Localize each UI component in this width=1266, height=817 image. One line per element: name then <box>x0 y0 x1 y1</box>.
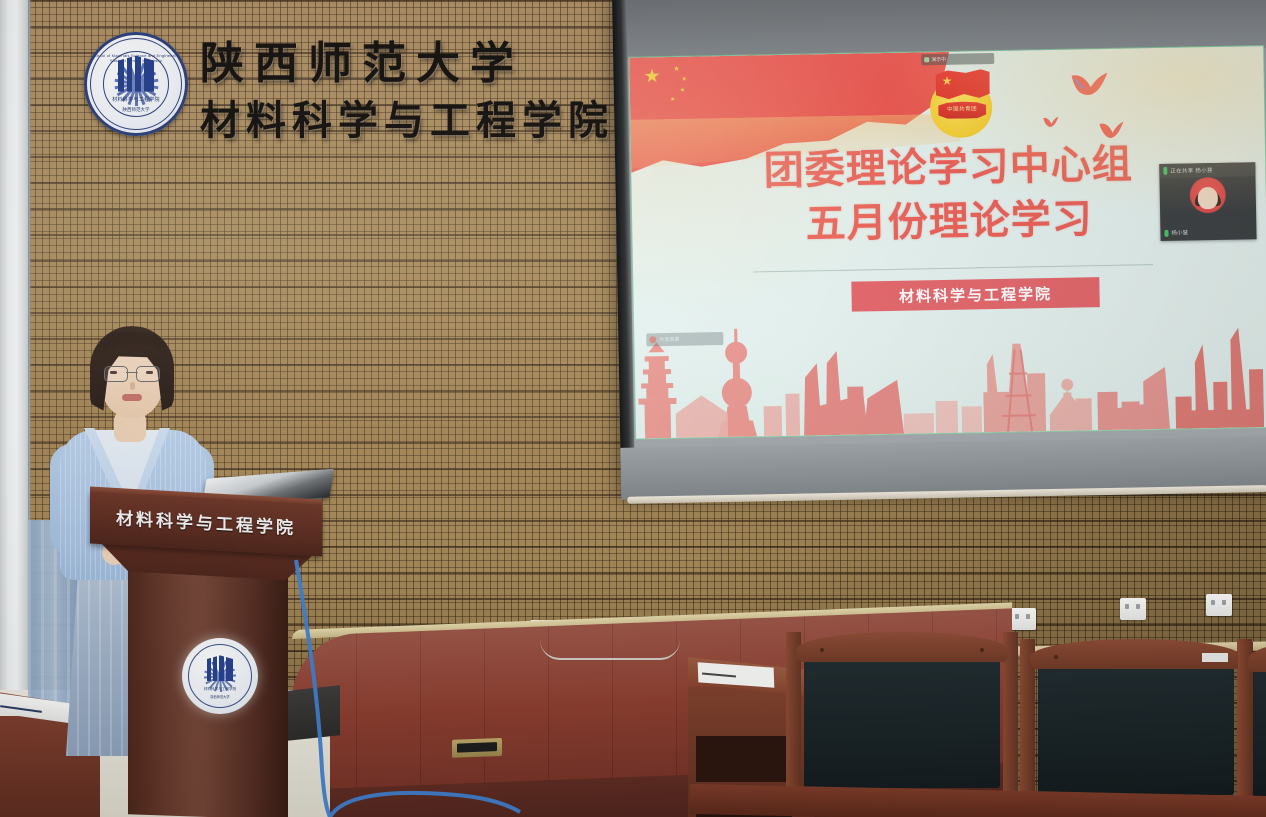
pip-avatar <box>1187 177 1228 218</box>
league-band-text: 中国共青团 <box>938 101 986 119</box>
chair-backrest-pad <box>804 658 999 788</box>
slide-corner-overlay-label[interactable]: 共享屏幕 <box>646 332 723 346</box>
flag-star-3: ★ <box>680 87 686 94</box>
emblem-cn-line2: 陕西师范大学 <box>84 107 188 113</box>
chair-top-rail <box>796 632 1008 662</box>
city-skyline-graphic <box>634 299 1266 439</box>
wall-signage-university: 陕西师范大学 <box>200 38 600 90</box>
glasses-icon <box>104 366 160 380</box>
flag-star-2: ★ <box>682 76 688 83</box>
pip-sharing-label: 正在共享 杨小慧 <box>1170 166 1213 175</box>
presenter-mouth <box>122 394 142 401</box>
toolbar-label: 演示中 <box>931 56 946 63</box>
school-emblem: School of Materials Science and Engineer… <box>84 32 188 136</box>
lectern-emblem-book-icon <box>207 655 233 681</box>
chair-top-rail <box>1030 639 1242 669</box>
lectern-emblem-line2: 陕西师范大学 <box>182 694 258 699</box>
chair-screw <box>1054 655 1058 659</box>
wall-outlet[interactable] <box>1120 598 1146 620</box>
left-white-pillar <box>0 0 30 700</box>
lectern-sign-text: 材料科学与工程学院 <box>90 503 322 541</box>
dove-icon-medium <box>1098 121 1124 141</box>
dove-icon-small <box>1042 116 1059 129</box>
toolbar-dot-icon <box>924 57 929 62</box>
wall-outlet[interactable] <box>1010 608 1036 630</box>
youth-league-emblem: ★ 中国共青团 <box>925 67 998 140</box>
desk-shelf-upper <box>696 736 792 782</box>
chair-screw <box>980 648 984 652</box>
meeting-participant-tile[interactable]: 正在共享 杨小慧 杨小慧 <box>1159 162 1256 241</box>
power-cable-small <box>540 640 680 660</box>
flag-star-large: ★ <box>643 67 660 86</box>
overlay-avatar-icon <box>649 336 656 343</box>
pip-footer: 杨小慧 <box>1164 228 1188 236</box>
emblem-cn-line1: 材料科学与工程学院 <box>84 96 188 103</box>
wall-signage-college: 材料科学与工程学院 <box>200 94 600 148</box>
league-star: ★ <box>942 75 953 87</box>
overlay-label-text: 共享屏幕 <box>659 336 679 343</box>
chair-backrest-pad <box>1253 668 1266 798</box>
slide-divider <box>753 264 1153 272</box>
dove-icon-large <box>1069 71 1110 102</box>
lectern: 材料科学与工程学院 材料科学与工程学院 陕西师范大学 <box>36 468 348 817</box>
wall-signage: 陕西师范大学 材料科学与工程学院 <box>200 38 600 148</box>
auditorium-chair <box>1248 642 1266 817</box>
wall-outlet[interactable] <box>1206 594 1232 616</box>
pip-participant-name: 杨小慧 <box>1171 228 1188 236</box>
flag-star-4: ★ <box>670 96 676 103</box>
flag-star-1: ★ <box>673 65 679 73</box>
microphone-icon-small <box>1164 229 1168 236</box>
chair-asset-tag <box>1202 653 1228 662</box>
share-toolbar-overlay[interactable]: 演示中 <box>921 53 994 65</box>
lectern-emblem-line1: 材料科学与工程学院 <box>182 687 258 692</box>
projected-slide: ★ ★ ★ ★ ★ ★ 中国共青团 <box>629 46 1266 439</box>
league-band: 中国共青团 <box>938 101 986 119</box>
avatar-face <box>1198 187 1218 209</box>
projection-screen: ★ ★ ★ ★ ★ ★ 中国共青团 <box>612 0 1266 500</box>
microphone-icon <box>1163 167 1167 175</box>
chair-screw <box>820 648 824 652</box>
auditorium-chair <box>1030 639 1242 817</box>
lecture-hall-photo: School of Materials Science and Engineer… <box>0 0 1266 817</box>
lectern-emblem: 材料科学与工程学院 陕西师范大学 <box>182 638 258 714</box>
pip-header: 正在共享 杨小慧 <box>1159 162 1256 178</box>
chair-backrest-pad <box>1038 665 1233 795</box>
emblem-book-icon <box>118 56 154 92</box>
presenter-nose <box>130 382 135 390</box>
